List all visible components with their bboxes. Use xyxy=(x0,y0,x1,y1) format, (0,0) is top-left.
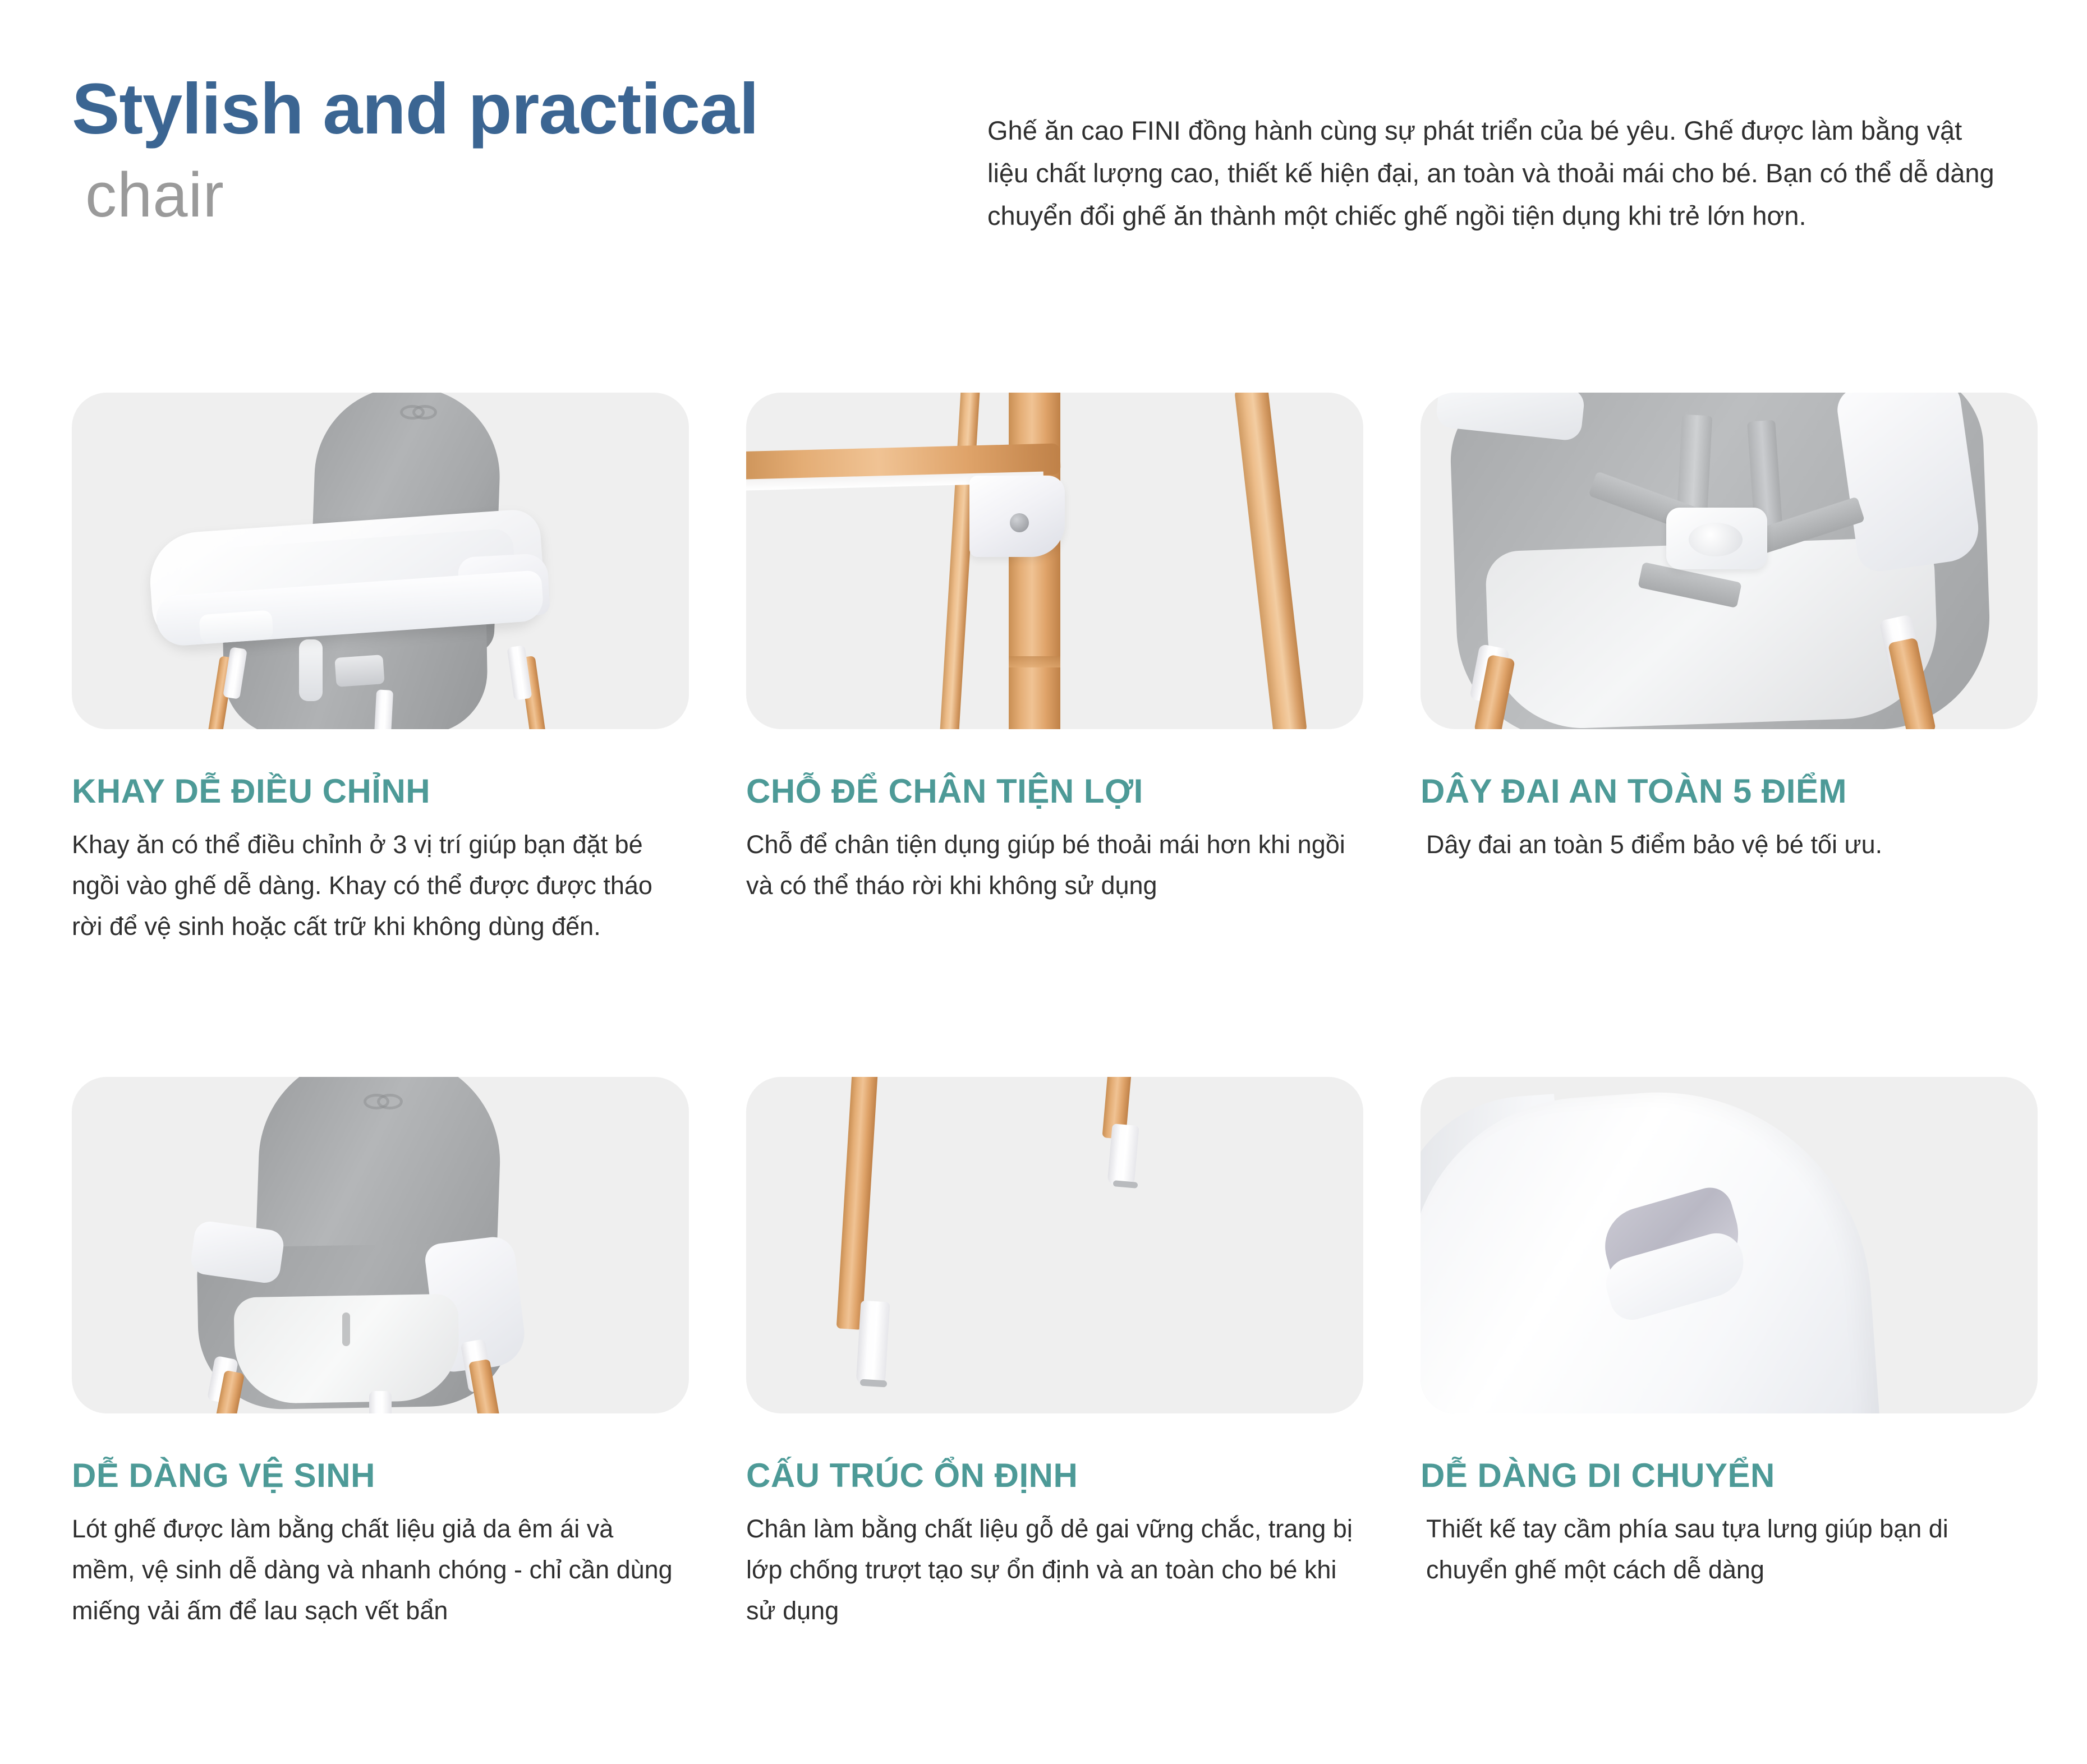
harness-buckle-release-button xyxy=(1689,523,1743,556)
page-header: Stylish and practical chair Ghế ăn cao F… xyxy=(0,0,2087,348)
intro-paragraph: Ghế ăn cao FINI đồng hành cùng sự phát t… xyxy=(987,109,1997,237)
feature-card-harness: DÂY ĐAI AN TOÀN 5 ĐIỂM Dây đai an toàn 5… xyxy=(1421,393,2038,865)
title-block: Stylish and practical chair xyxy=(72,73,947,228)
wooden-leg-thin-left xyxy=(940,393,980,729)
feature-image-seat-cushion xyxy=(72,1077,689,1413)
anti-slip-cap-right xyxy=(1107,1123,1139,1187)
white-leg-center xyxy=(373,689,393,729)
wooden-leg-left xyxy=(836,1077,879,1330)
feature-title: CHỖ ĐỂ CHÂN TIỆN LỢI xyxy=(746,773,1363,810)
rubber-foot-left xyxy=(860,1379,888,1388)
feature-row-1: KHAY DỄ ĐIỀU CHỈNH Khay ăn có thể điều c… xyxy=(0,393,2087,1077)
rubber-foot-right xyxy=(1113,1180,1138,1189)
feature-body: Lót ghế được làm bằng chất liệu giả da ê… xyxy=(72,1509,683,1632)
feature-row-2: DỄ DÀNG VỆ SINH Lót ghế được làm bằng ch… xyxy=(0,1077,2087,1761)
brand-logo-icon-second-ring xyxy=(377,1094,403,1109)
page-title: Stylish and practical xyxy=(72,73,947,146)
white-leg-cap-right xyxy=(507,645,532,701)
armrest-right xyxy=(1835,393,1983,574)
feature-body: Dây đai an toàn 5 điểm bảo vệ bé tối ưu. xyxy=(1421,825,2032,865)
feature-title: CẤU TRÚC ỔN ĐỊNH xyxy=(746,1457,1363,1494)
feature-card-stability: CẤU TRÚC ỔN ĐỊNH Chân làm bằng chất liệu… xyxy=(746,1077,1363,1632)
harness-post-shape xyxy=(299,639,323,701)
feature-title: DỄ DÀNG DI CHUYỂN xyxy=(1421,1457,2038,1494)
white-leg-center xyxy=(369,1391,392,1413)
feature-grid: KHAY DỄ ĐIỀU CHỈNH Khay ăn có thể điều c… xyxy=(0,393,2087,1761)
feature-image-adjustable-tray xyxy=(72,393,689,729)
harness-slot-opening xyxy=(342,1312,350,1346)
seat-cushion-pad xyxy=(233,1294,459,1404)
feature-card-footrest: CHỖ ĐỂ CHÂN TIỆN LỢI Chỗ để chân tiện dụ… xyxy=(746,393,1363,906)
feature-title: DÂY ĐAI AN TOÀN 5 ĐIỂM xyxy=(1421,773,2038,810)
feature-body: Thiết kế tay cầm phía sau tựa lưng giúp … xyxy=(1421,1509,2032,1591)
wooden-leg-right xyxy=(1234,393,1307,729)
feature-body: Chỗ để chân tiện dụng giúp bé thoải mái … xyxy=(746,825,1358,906)
feature-image-footrest xyxy=(746,393,1363,729)
brand-logo-icon-second-ring xyxy=(412,405,437,420)
feature-title: KHAY DỄ ĐIỀU CHỈNH xyxy=(72,773,689,810)
feature-image-legs xyxy=(746,1077,1363,1413)
feature-card-tray: KHAY DỄ ĐIỀU CHỈNH Khay ăn có thể điều c… xyxy=(72,393,689,947)
harness-buckle-shape xyxy=(334,655,384,687)
feature-body: Khay ăn có thể điều chỉnh ở 3 vị trí giú… xyxy=(72,825,683,947)
tray-brand-tag xyxy=(199,610,273,644)
feature-body: Chân làm bằng chất liệu gỗ dẻ gai vững c… xyxy=(746,1509,1358,1632)
anti-slip-cap-left xyxy=(856,1301,890,1387)
leg-joint-seam xyxy=(1009,656,1060,667)
feature-title: DỄ DÀNG VỆ SINH xyxy=(72,1457,689,1494)
feature-card-cleaning: DỄ DÀNG VỆ SINH Lót ghế được làm bằng ch… xyxy=(72,1077,689,1632)
page-subtitle: chair xyxy=(85,162,947,228)
feature-image-carry-handle xyxy=(1421,1077,2038,1413)
product-feature-page: Stylish and practical chair Ghế ăn cao F… xyxy=(0,0,2087,1764)
feature-card-portability: DỄ DÀNG DI CHUYỂN Thiết kế tay cầm phía … xyxy=(1421,1077,2038,1591)
feature-image-harness xyxy=(1421,393,2038,729)
bracket-screw-icon xyxy=(1010,513,1029,532)
